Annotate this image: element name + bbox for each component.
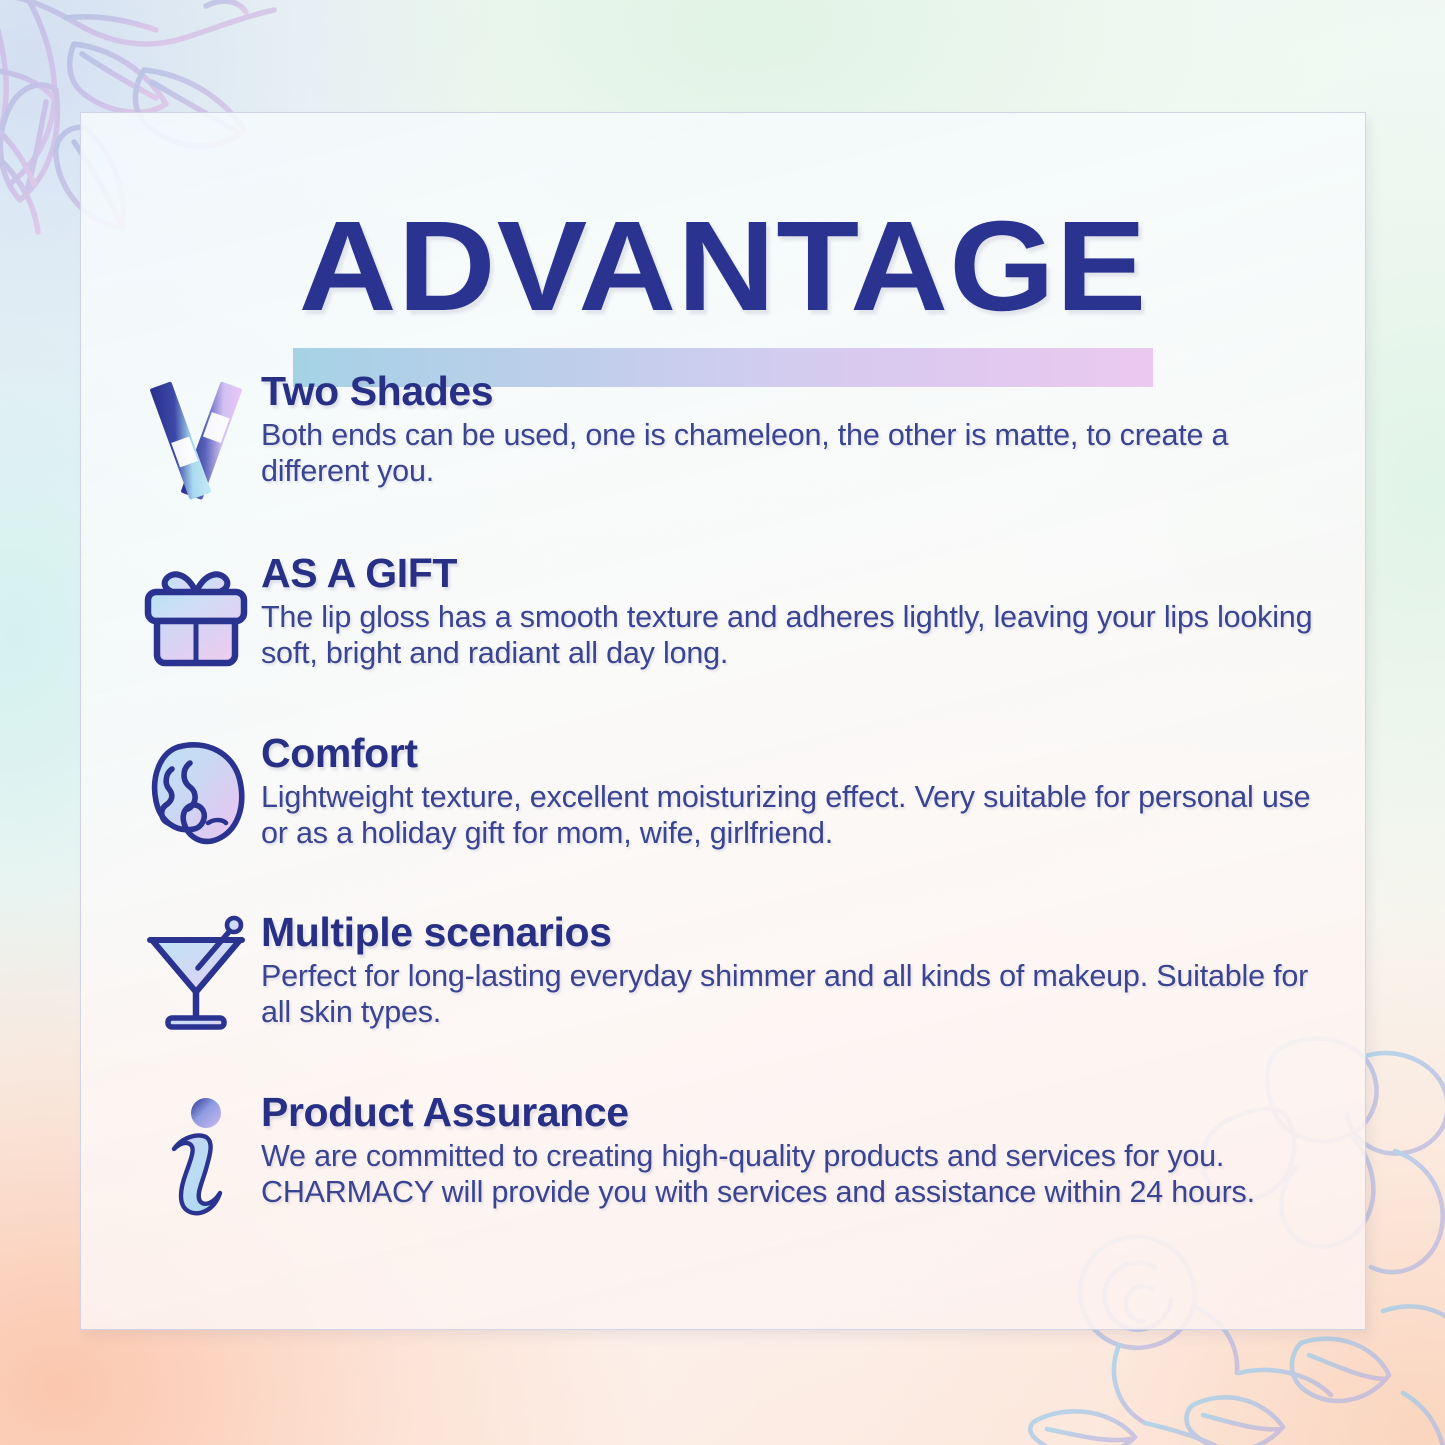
cocktail-glass-icon [131,907,261,1039]
info-italic-i-icon [131,1087,261,1219]
woman-profile-icon [131,728,261,860]
feature-text-as-a-gift: AS A GIFT The lip gloss has a smooth tex… [261,548,1331,672]
feature-item-product-assurance: Product Assurance We are committed to cr… [131,1087,1331,1247]
crossed-lipstick-wands-icon [131,366,261,498]
feature-text-multiple-scenarios: Multiple scenarios Perfect for long-last… [261,907,1331,1031]
feature-title: Comfort [261,732,1331,775]
content-card: ADVANTAGE [80,112,1366,1330]
feature-list: Two Shades Both ends can be used, one is… [131,366,1331,1247]
feature-title: Multiple scenarios [261,911,1331,954]
feature-item-two-shades: Two Shades Both ends can be used, one is… [131,366,1331,526]
feature-description: We are committed to creating high-qualit… [261,1139,1331,1210]
feature-description: Lightweight texture, excellent moisturiz… [261,780,1331,851]
feature-item-as-a-gift: AS A GIFT The lip gloss has a smooth tex… [131,548,1331,708]
feature-text-two-shades: Two Shades Both ends can be used, one is… [261,366,1331,490]
page-title: ADVANTAGE [42,185,1403,331]
feature-description: Both ends can be used, one is chameleon,… [261,418,1331,489]
advantage-infographic: ADVANTAGE [0,0,1445,1445]
feature-description: The lip gloss has a smooth texture and a… [261,600,1331,671]
gift-box-icon [131,548,261,680]
feature-text-comfort: Comfort Lightweight texture, excellent m… [261,728,1331,852]
feature-title: AS A GIFT [261,552,1331,595]
feature-text-product-assurance: Product Assurance We are committed to cr… [261,1087,1331,1211]
feature-title: Two Shades [261,370,1331,413]
feature-item-comfort: Comfort Lightweight texture, excellent m… [131,728,1331,888]
feature-item-multiple-scenarios: Multiple scenarios Perfect for long-last… [131,907,1331,1067]
feature-description: Perfect for long-lasting everyday shimme… [261,959,1331,1030]
feature-title: Product Assurance [261,1091,1331,1134]
